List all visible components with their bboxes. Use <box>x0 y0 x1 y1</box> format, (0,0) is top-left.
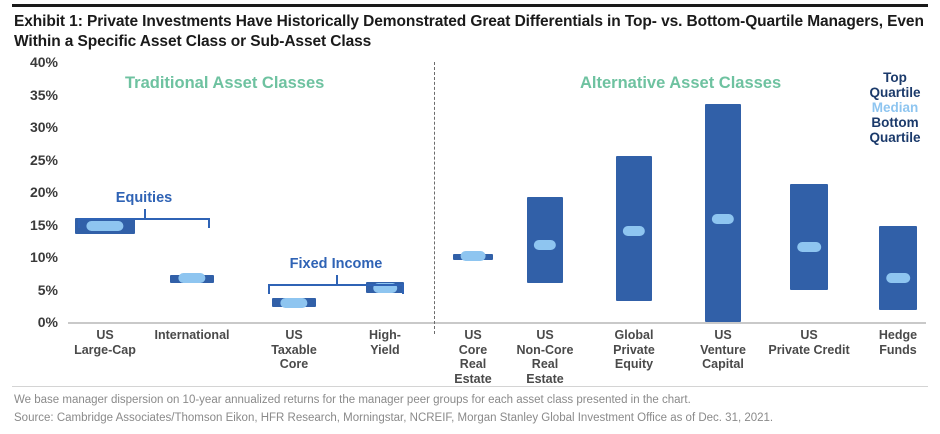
median-marker <box>623 226 645 236</box>
quartile-range-bar <box>790 184 828 290</box>
median-marker <box>797 242 821 252</box>
bar-group-global-private-equity[interactable] <box>616 62 652 322</box>
x-axis-label-hedge-funds: HedgeFunds <box>850 328 940 357</box>
bar-group-us-taxable-core[interactable] <box>272 62 316 322</box>
footnote-source: Source: Cambridge Associates/Thomson Eik… <box>14 410 773 427</box>
x-axis-label-global-private-equity: GlobalPrivateEquity <box>586 328 682 372</box>
quartile-range-bar <box>879 226 917 311</box>
bar-group-us-non-core-real-estate[interactable] <box>527 62 563 322</box>
x-axis-label-us-taxable-core: USTaxableCore <box>246 328 342 372</box>
footnote-methodology: We base manager dispersion on 10-year an… <box>14 392 691 409</box>
bar-group-high-yield[interactable] <box>366 62 404 322</box>
bar-group-us-venture-capital[interactable] <box>705 62 741 322</box>
footnote-rule <box>12 386 928 387</box>
bracket-label-equities: Equities <box>116 190 172 206</box>
median-marker <box>886 273 910 283</box>
x-axis-label-us-private-credit: USPrivate Credit <box>761 328 857 357</box>
page-title: Exhibit 1: Private Investments Have Hist… <box>14 12 924 53</box>
x-axis-label-us-venture-capital: USVentureCapital <box>675 328 771 372</box>
bracket-label-fixed-income: Fixed Income <box>290 256 383 272</box>
median-marker <box>280 298 307 308</box>
bar-group-hedge-funds[interactable] <box>879 62 917 322</box>
median-marker <box>461 251 486 261</box>
x-axis-label-us-non-core-real-estate: USNon-CoreRealEstate <box>497 328 593 386</box>
median-marker <box>178 273 205 283</box>
bar-group-international[interactable] <box>170 62 214 322</box>
median-marker <box>86 221 123 231</box>
chart-plot-area: 40%35%30%25%20%15%10%5%0% Traditional As… <box>0 62 940 334</box>
quartile-range-bar <box>705 104 741 322</box>
bar-group-us-core-real-estate[interactable] <box>453 62 493 322</box>
median-marker <box>534 240 556 250</box>
x-axis-label-us-large-cap: USLarge-Cap <box>57 328 153 357</box>
bar-group-us-private-credit[interactable] <box>790 62 828 322</box>
median-marker <box>712 214 734 224</box>
title-top-rule <box>12 4 928 7</box>
x-axis-label-high-yield: High-Yield <box>337 328 433 357</box>
x-axis-label-international: International <box>144 328 240 343</box>
